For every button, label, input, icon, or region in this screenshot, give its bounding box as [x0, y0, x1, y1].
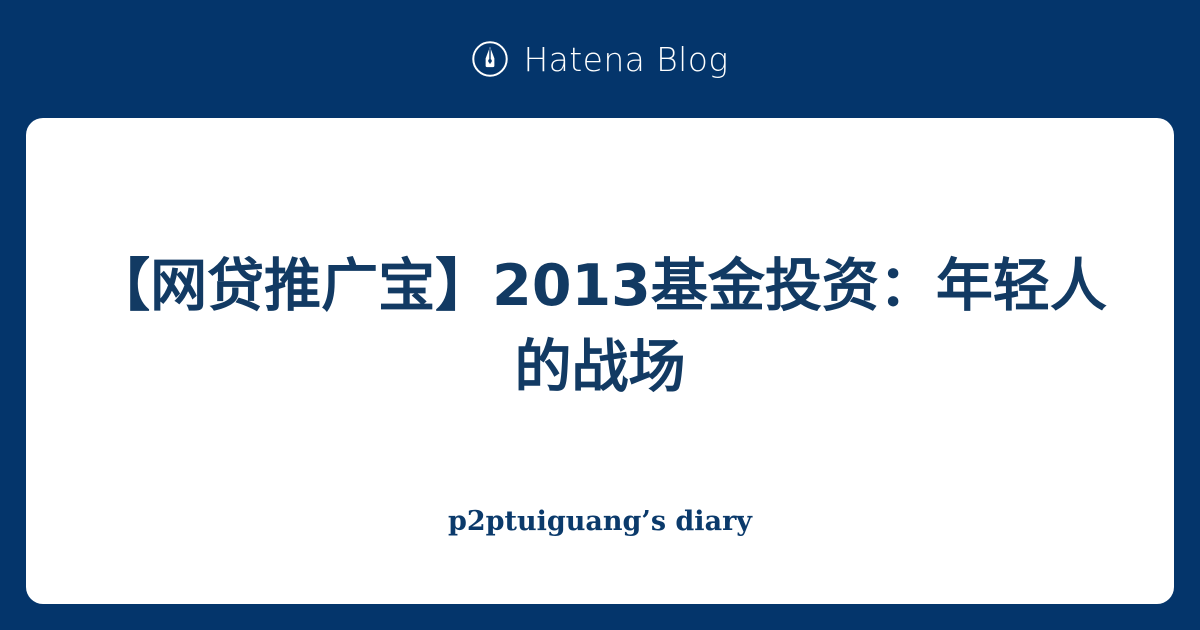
- hatena-pen-nib-icon: [471, 40, 509, 78]
- hatena-blog-brand-header: Hatena Blog: [0, 0, 1200, 118]
- blog-name: p2ptuiguang’s diary: [26, 506, 1174, 538]
- hatena-blog-wordmark: Hatena Blog: [523, 43, 728, 76]
- og-image-canvas: Hatena Blog 【网贷推广宝】2013基金投资：年轻人的战场 p2ptu…: [0, 0, 1200, 630]
- entry-card: 【网贷推广宝】2013基金投资：年轻人的战场 p2ptuiguang’s dia…: [26, 118, 1174, 604]
- entry-title: 【网贷推广宝】2013基金投资：年轻人的战场: [26, 246, 1174, 408]
